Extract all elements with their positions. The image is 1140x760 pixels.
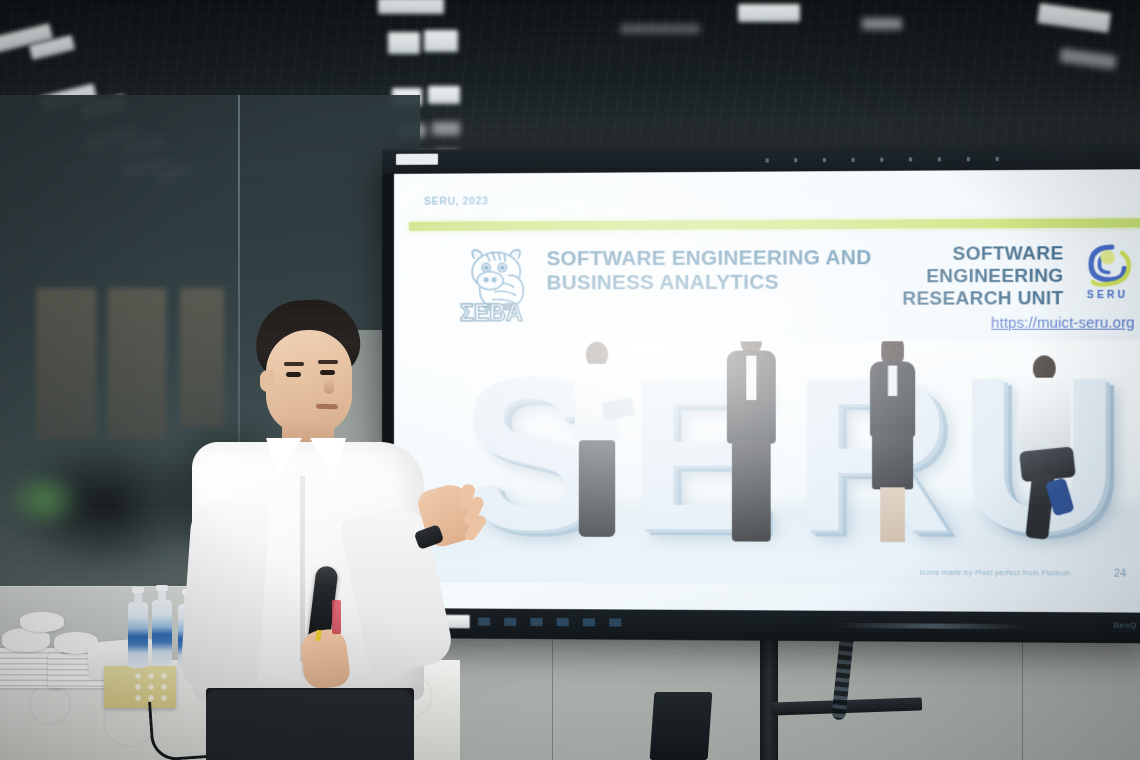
seru-org-name: SOFTWARE ENGINEERING RESEARCH UNIT (902, 239, 1071, 310)
presenter-left-arm (179, 498, 270, 693)
presenter-face (266, 330, 352, 434)
presentation-display[interactable]: SERU, 2023 (382, 145, 1140, 644)
person-blouse (888, 366, 897, 396)
seru-url-link[interactable]: https://muict-seru.org (825, 315, 1135, 332)
seru-mark-icon: SERU (1076, 239, 1134, 302)
display-port-row[interactable] (478, 618, 634, 627)
display-ir-bar (835, 623, 1031, 629)
presenter-eyebrow (284, 362, 304, 366)
person-legs-skin (880, 487, 905, 542)
ceiling-light-panel (620, 24, 700, 34)
person-legs (732, 440, 771, 541)
person-legs (579, 440, 615, 537)
display-sensor-dots (766, 157, 1002, 163)
ceiling-light-panel (738, 4, 800, 22)
presenter-mouth (316, 404, 338, 410)
presenter-eye (320, 370, 335, 375)
water-bottle (128, 602, 148, 668)
background-cabinet (36, 288, 96, 438)
background-cabinet (108, 288, 166, 438)
green-reflection (6, 470, 82, 530)
ceiling-light-panel (424, 30, 458, 52)
hero-person-4 (1014, 355, 1074, 545)
display-stand-column (760, 636, 778, 760)
seru-org-block: SOFTWARE ENGINEERING RESEARCH UNIT SERU … (825, 239, 1135, 332)
hero-person-2 (727, 341, 776, 544)
slide-attribution: Icons made by Pixel perfect from Flatico… (920, 568, 1071, 578)
presenter-nose (324, 378, 334, 394)
presenter-lanyard-badge (332, 600, 341, 634)
slide-eyebrow: SERU, 2023 (424, 195, 489, 207)
tissue-box-pattern (132, 670, 172, 704)
ceiling-light-panel (862, 18, 902, 30)
presenter-ear (260, 370, 274, 392)
seru-org-line3: RESEARCH UNIT (902, 287, 1063, 310)
slide-page-number: 24 (1114, 568, 1127, 580)
seru-org-line2: ENGINEERING (902, 265, 1063, 288)
display-bezel-label (396, 154, 438, 165)
person-shirt-front (746, 356, 756, 400)
slide-hero-graphic: S E R U (394, 341, 1140, 586)
seru-mark-caption: SERU (1087, 290, 1128, 301)
bowl-stack (20, 612, 64, 632)
ceiling-light-panel (428, 86, 460, 104)
ceiling-light-panel (432, 122, 460, 136)
presenter-shirt-placket (300, 476, 305, 662)
presenter (178, 300, 478, 760)
seru-org-line1: SOFTWARE (902, 242, 1063, 265)
slide-accent-bar (409, 218, 1140, 231)
person-torso (1018, 378, 1070, 451)
presenter-eye (286, 372, 301, 377)
person-skirt (872, 433, 913, 490)
display-stand-foot (650, 692, 713, 760)
ceiling-light-panel (388, 32, 420, 54)
hero-person-1 (573, 342, 622, 543)
ceiling-light-panel (378, 0, 444, 14)
presenter-trousers (206, 690, 414, 760)
hero-person-3 (868, 341, 917, 544)
presenter-eyebrow (318, 360, 338, 364)
presentation-photo: SERU, 2023 (0, 0, 1140, 760)
display-brand-logo: BenQ (1113, 621, 1136, 630)
display-screen[interactable]: SERU, 2023 (394, 169, 1140, 612)
water-bottle (152, 600, 172, 666)
display-bottom-bezel: BenQ (382, 608, 1140, 643)
